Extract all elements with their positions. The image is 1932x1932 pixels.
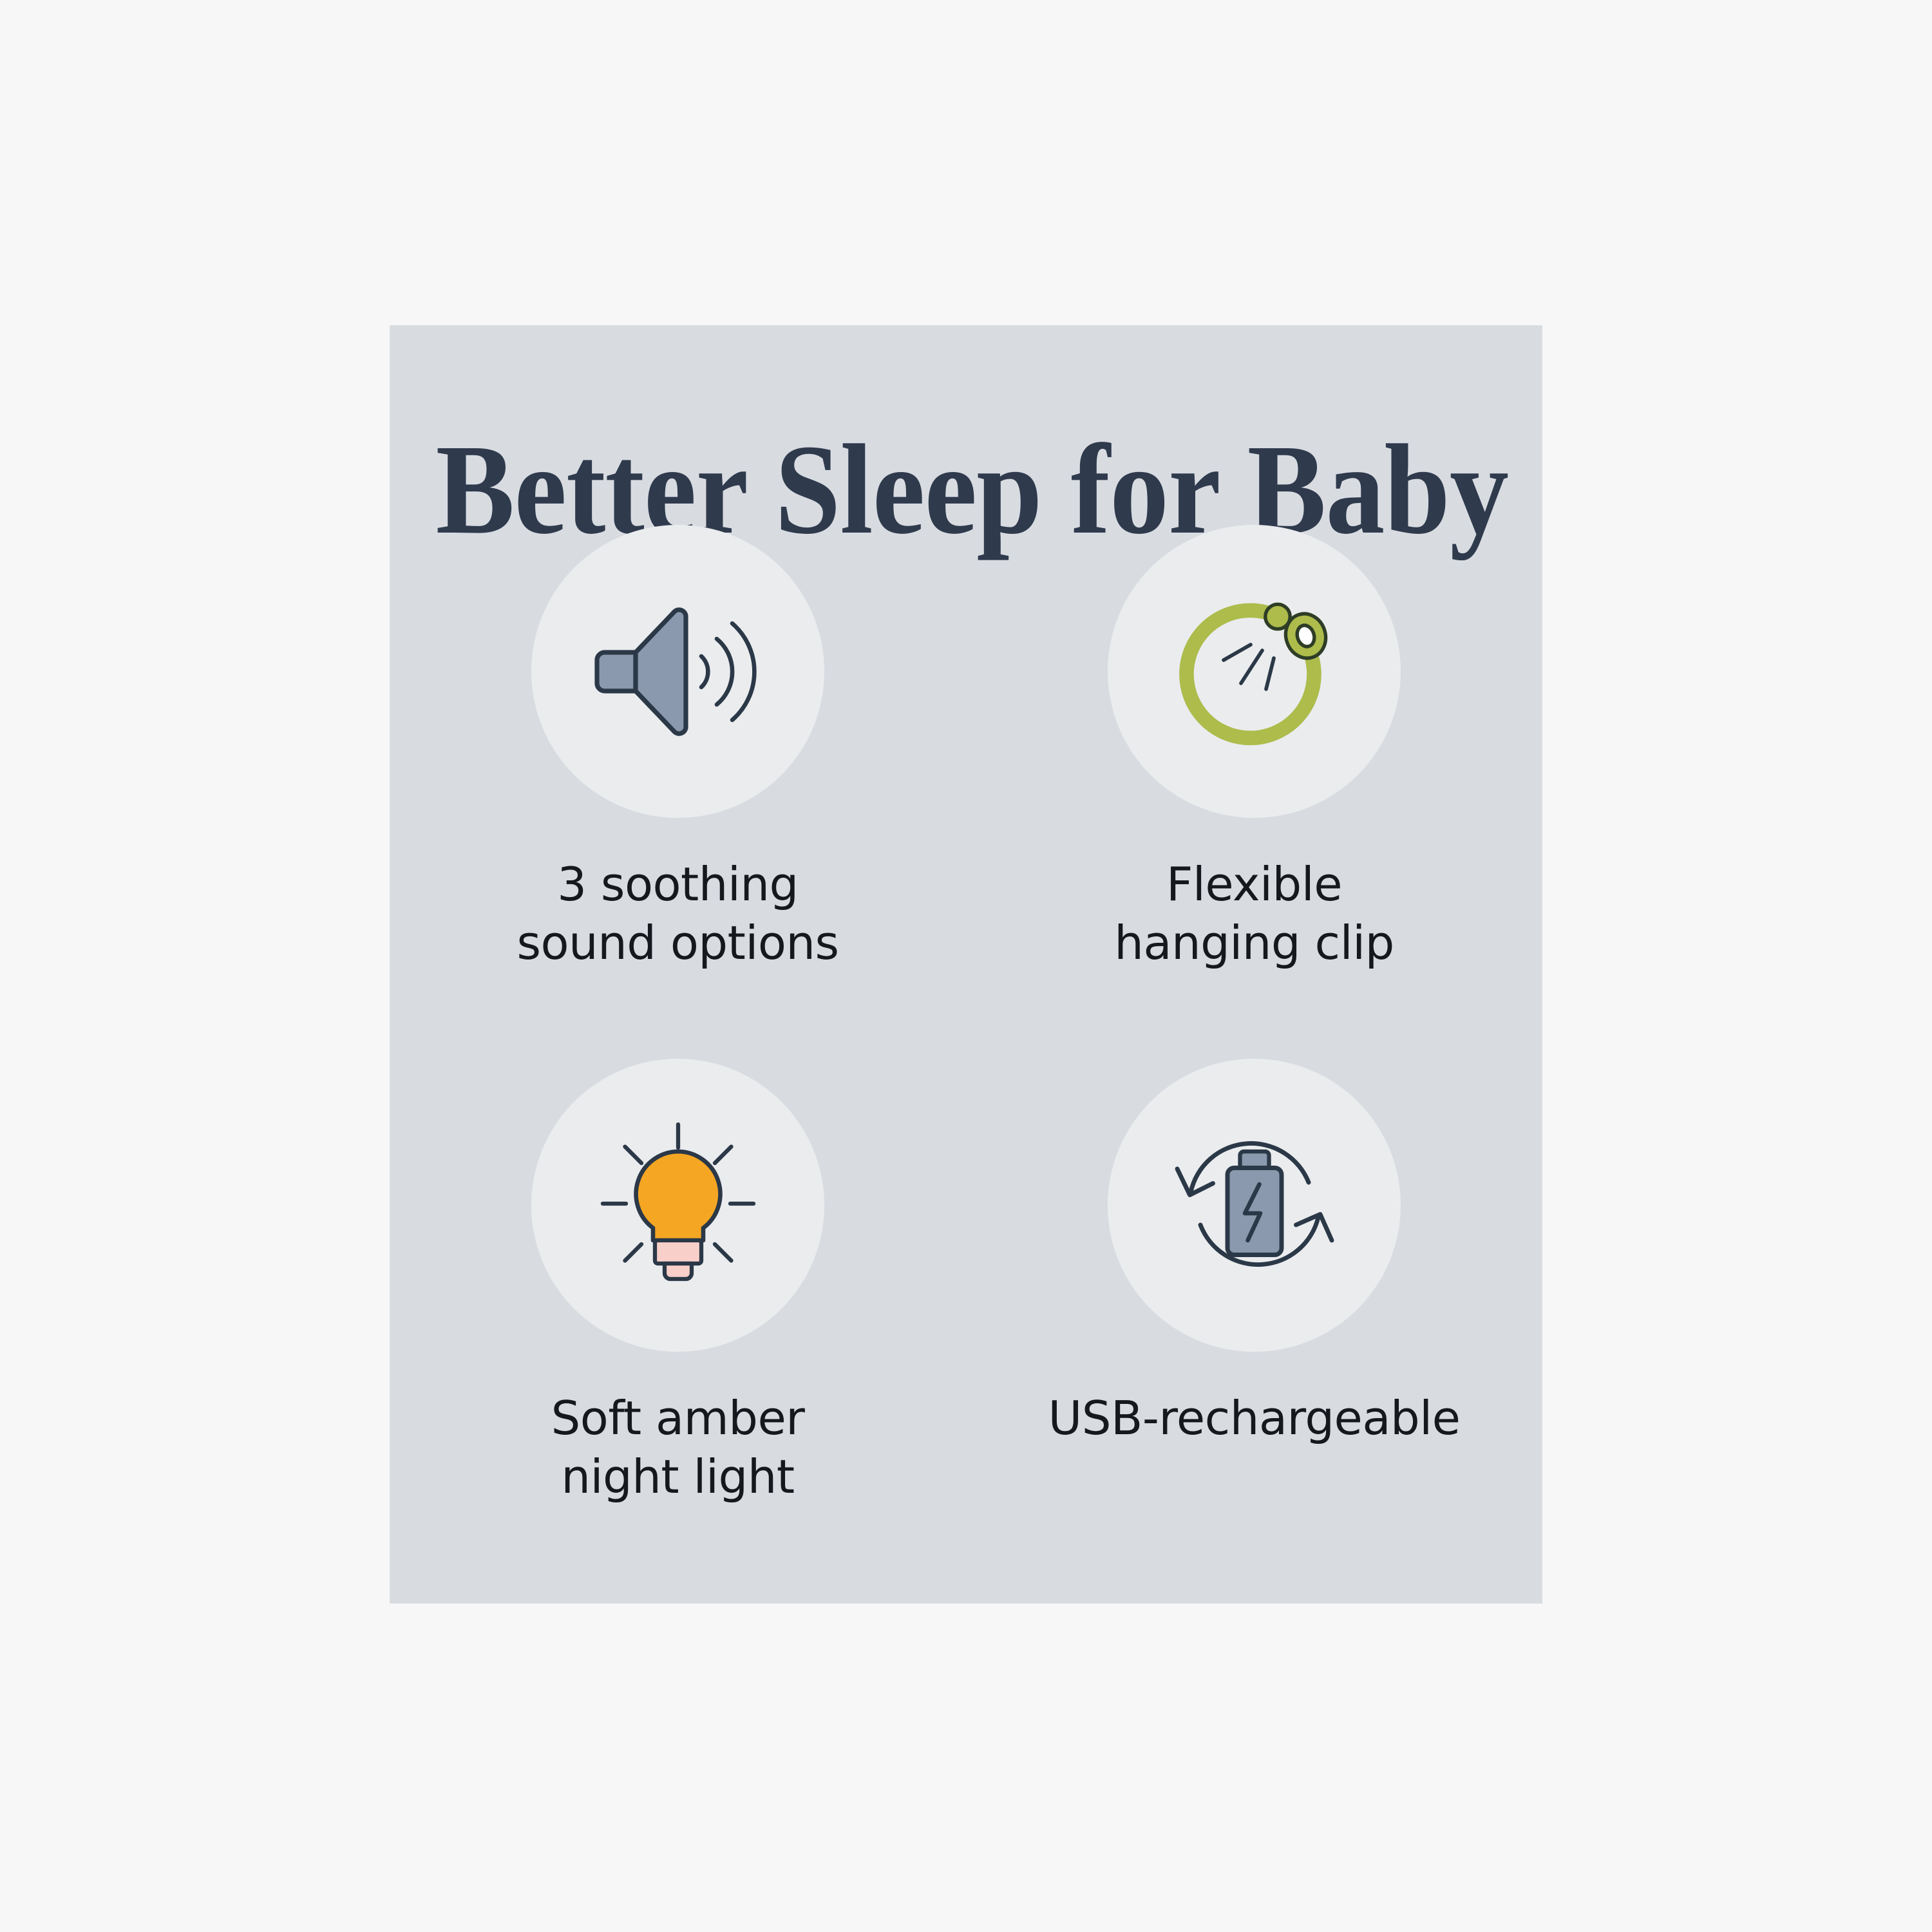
feature-item-hanging-clip: Flexible hanging clip	[966, 525, 1542, 972]
icon-circle-night-light	[531, 1059, 824, 1352]
lightbulb-icon	[582, 1109, 775, 1302]
feature-caption-night-light: Soft amber night light	[551, 1389, 805, 1506]
feature-item-night-light: Soft amber night light	[390, 1059, 966, 1506]
feature-item-usb-rechargeable: USB-rechargeable	[966, 1059, 1542, 1506]
feature-card: Better Sleep for Baby	[390, 325, 1542, 1604]
feature-grid: 3 soothing sound options	[390, 525, 1542, 1506]
page-root: Better Sleep for Baby	[0, 0, 1932, 1932]
feature-caption-sound-options: 3 soothing sound options	[516, 855, 838, 972]
feature-item-sound-options: 3 soothing sound options	[390, 525, 966, 972]
icon-circle-hanging-clip	[1108, 525, 1401, 818]
flexible-clip-ring-icon	[1158, 575, 1351, 768]
speaker-sound-icon	[582, 575, 775, 768]
icon-circle-usb-rechargeable	[1108, 1059, 1401, 1352]
icon-circle-sound-options	[531, 525, 824, 818]
feature-caption-usb-rechargeable: USB-rechargeable	[1048, 1389, 1461, 1448]
feature-caption-hanging-clip: Flexible hanging clip	[1114, 855, 1394, 972]
rechargeable-battery-icon	[1158, 1109, 1351, 1302]
